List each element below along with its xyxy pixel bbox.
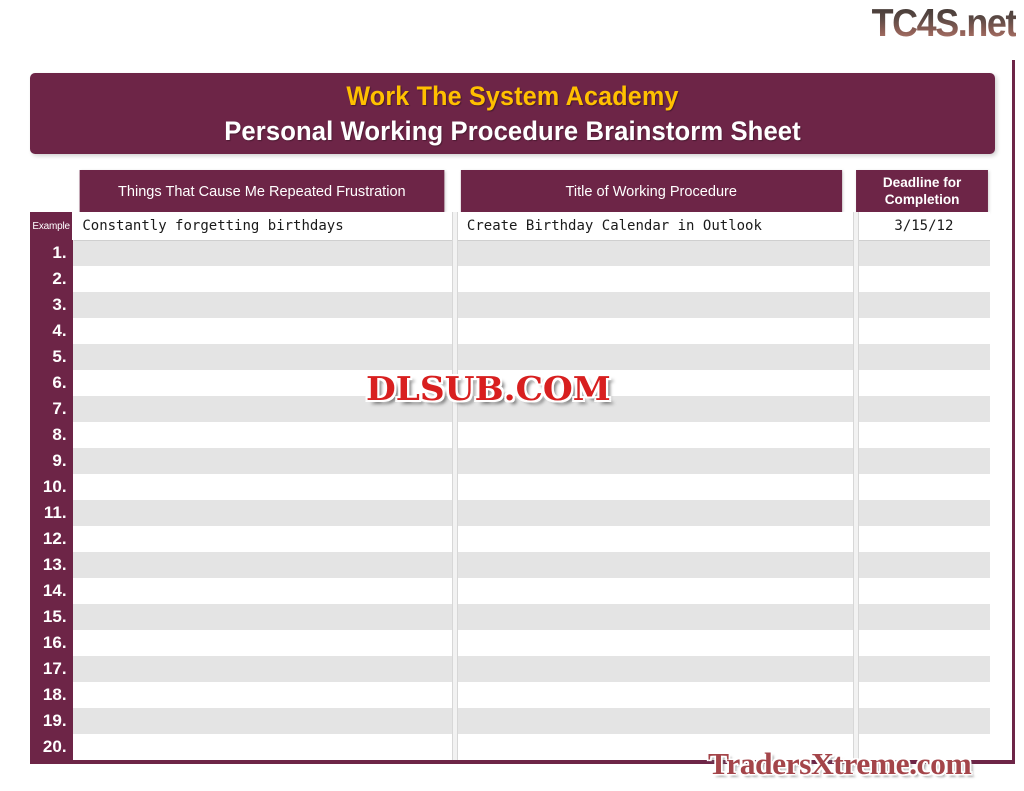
- cell-procedure[interactable]: [457, 266, 838, 292]
- cell-gap-2: [838, 604, 858, 630]
- cell-procedure[interactable]: [457, 708, 838, 734]
- cell-deadline[interactable]: [858, 604, 990, 630]
- header-banner: Work The System Academy Personal Working…: [30, 73, 995, 154]
- example-gap-1: [437, 212, 457, 240]
- cell-deadline[interactable]: [858, 656, 990, 682]
- cell-gap-2: [838, 292, 858, 318]
- cell-gap-1: [437, 656, 457, 682]
- header-number-spacer: [30, 170, 74, 212]
- cell-gap-2: [838, 578, 858, 604]
- row-number: 12.: [30, 526, 73, 552]
- cell-gap-1: [437, 604, 457, 630]
- banner-title: Work The System Academy: [64, 79, 961, 113]
- dlsub-watermark: DLSUB.COM: [366, 369, 611, 408]
- cell-gap-2: [838, 552, 858, 578]
- example-cell-frustration: Constantly forgetting birthdays: [72, 212, 437, 240]
- example-cell-procedure: Create Birthday Calendar in Outlook: [457, 212, 838, 240]
- brainstorm-sheet-table: Things That Cause Me Repeated Frustratio…: [30, 170, 990, 762]
- cell-gap-1: [437, 266, 457, 292]
- table-row: 5.: [30, 344, 990, 370]
- cell-gap-2: [838, 448, 858, 474]
- table-row: 18.: [30, 682, 990, 708]
- row-number: 2.: [30, 266, 73, 292]
- cell-deadline[interactable]: [858, 682, 990, 708]
- cell-gap-1: [437, 292, 457, 318]
- row-number: 3.: [30, 292, 73, 318]
- table-row: 16.: [30, 630, 990, 656]
- example-gap-2: [838, 212, 858, 240]
- cell-gap-1: [437, 422, 457, 448]
- row-number: 1.: [30, 240, 73, 266]
- cell-deadline[interactable]: [858, 422, 990, 448]
- cell-gap-1: [437, 240, 457, 266]
- column-header-procedure: Title of Working Procedure: [461, 170, 842, 212]
- row-number: 6.: [30, 370, 73, 396]
- cell-deadline[interactable]: [858, 318, 990, 344]
- table-row-example: Example Constantly forgetting birthdays …: [30, 212, 990, 240]
- cell-gap-1: [437, 708, 457, 734]
- cell-procedure[interactable]: [457, 292, 838, 318]
- cell-procedure[interactable]: [457, 240, 838, 266]
- row-number: 13.: [30, 552, 73, 578]
- cell-frustration[interactable]: [73, 344, 437, 370]
- header-gap-2: [848, 170, 854, 212]
- cell-gap-2: [838, 526, 858, 552]
- cell-frustration[interactable]: [73, 734, 437, 760]
- cell-procedure[interactable]: [457, 578, 838, 604]
- table-row: 2.: [30, 266, 990, 292]
- cell-procedure[interactable]: [457, 422, 838, 448]
- cell-frustration[interactable]: [73, 578, 437, 604]
- cell-procedure[interactable]: [457, 344, 838, 370]
- table-row: 10.: [30, 474, 990, 500]
- table-row: 3.: [30, 292, 990, 318]
- cell-procedure[interactable]: [457, 474, 838, 500]
- cell-gap-2: [838, 708, 858, 734]
- cell-procedure[interactable]: [457, 318, 838, 344]
- row-number: 20.: [30, 734, 73, 760]
- cell-procedure[interactable]: [457, 552, 838, 578]
- cell-deadline[interactable]: [858, 344, 990, 370]
- right-border-rule: [1012, 60, 1015, 764]
- cell-frustration[interactable]: [73, 552, 437, 578]
- row-label-example: Example: [30, 212, 72, 240]
- cell-gap-1: [437, 448, 457, 474]
- table-body: Example Constantly forgetting birthdays …: [30, 212, 990, 760]
- site-logo: TC4S.net: [872, 2, 1016, 46]
- cell-frustration[interactable]: [73, 422, 437, 448]
- cell-gap-2: [838, 240, 858, 266]
- row-number: 14.: [30, 578, 73, 604]
- table-row: 14.: [30, 578, 990, 604]
- cell-gap-2: [838, 266, 858, 292]
- column-header-frustration: Things That Cause Me Repeated Frustratio…: [79, 170, 443, 212]
- cell-gap-2: [838, 474, 858, 500]
- cell-frustration[interactable]: [73, 448, 437, 474]
- cell-gap-1: [437, 318, 457, 344]
- row-number: 18.: [30, 682, 73, 708]
- cell-frustration[interactable]: [73, 240, 437, 266]
- cell-procedure[interactable]: [457, 682, 838, 708]
- table-row: 8.: [30, 422, 990, 448]
- cell-frustration[interactable]: [73, 318, 437, 344]
- table-row: 19.: [30, 708, 990, 734]
- cell-frustration[interactable]: [73, 526, 437, 552]
- cell-frustration[interactable]: [73, 292, 437, 318]
- table-row: 4.: [30, 318, 990, 344]
- cell-frustration[interactable]: [73, 604, 437, 630]
- cell-gap-1: [437, 630, 457, 656]
- table-row: 9.: [30, 448, 990, 474]
- cell-deadline[interactable]: [858, 292, 990, 318]
- tradersxtreme-watermark: TradersXtreme.com: [708, 746, 971, 782]
- numbered-rows-host: 1.2.3.4.5.6.7.8.9.10.11.12.13.14.15.16.1…: [30, 240, 990, 760]
- cell-procedure[interactable]: [457, 630, 838, 656]
- table-row: 15.: [30, 604, 990, 630]
- header-gap-1: [449, 170, 455, 212]
- cell-deadline[interactable]: [858, 526, 990, 552]
- example-cell-deadline: 3/15/12: [858, 212, 990, 240]
- cell-gap-2: [838, 370, 858, 396]
- cell-procedure[interactable]: [457, 526, 838, 552]
- cell-gap-1: [437, 682, 457, 708]
- cell-frustration[interactable]: [73, 500, 437, 526]
- cell-gap-1: [437, 500, 457, 526]
- cell-gap-1: [437, 474, 457, 500]
- cell-procedure[interactable]: [457, 656, 838, 682]
- row-number: 10.: [30, 474, 73, 500]
- cell-gap-1: [437, 552, 457, 578]
- cell-frustration[interactable]: [73, 708, 437, 734]
- cell-gap-2: [838, 344, 858, 370]
- cell-procedure[interactable]: [457, 500, 838, 526]
- row-number: 9.: [30, 448, 73, 474]
- table-row: 1.: [30, 240, 990, 266]
- cell-gap-2: [838, 422, 858, 448]
- table-header-row: Things That Cause Me Repeated Frustratio…: [30, 170, 990, 212]
- cell-deadline[interactable]: [858, 500, 990, 526]
- row-number: 4.: [30, 318, 73, 344]
- cell-deadline[interactable]: [858, 474, 990, 500]
- cell-gap-2: [838, 500, 858, 526]
- row-number: 5.: [30, 344, 73, 370]
- cell-gap-2: [838, 630, 858, 656]
- cell-frustration[interactable]: [73, 656, 437, 682]
- column-header-deadline: Deadline for Completion: [856, 170, 988, 212]
- cell-deadline[interactable]: [858, 448, 990, 474]
- cell-gap-2: [838, 318, 858, 344]
- cell-frustration[interactable]: [73, 682, 437, 708]
- cell-frustration[interactable]: [73, 266, 437, 292]
- row-number: 11.: [30, 500, 73, 526]
- cell-gap-2: [838, 682, 858, 708]
- cell-deadline[interactable]: [858, 708, 990, 734]
- cell-deadline[interactable]: [858, 552, 990, 578]
- cell-deadline[interactable]: [858, 578, 990, 604]
- cell-procedure[interactable]: [457, 448, 838, 474]
- cell-deadline[interactable]: [858, 396, 990, 422]
- cell-deadline[interactable]: [858, 630, 990, 656]
- table-row: 13.: [30, 552, 990, 578]
- cell-procedure[interactable]: [457, 604, 838, 630]
- cell-frustration[interactable]: [73, 630, 437, 656]
- row-number: 17.: [30, 656, 73, 682]
- table-row: 11.: [30, 500, 990, 526]
- table-row: 12.: [30, 526, 990, 552]
- banner-subtitle: Personal Working Procedure Brainstorm Sh…: [54, 113, 971, 149]
- row-number: 19.: [30, 708, 73, 734]
- row-number: 15.: [30, 604, 73, 630]
- cell-deadline[interactable]: [858, 370, 990, 396]
- cell-deadline[interactable]: [858, 266, 990, 292]
- table-row: 17.: [30, 656, 990, 682]
- cell-gap-1: [437, 344, 457, 370]
- cell-gap-2: [838, 656, 858, 682]
- cell-gap-2: [838, 396, 858, 422]
- cell-gap-1: [437, 734, 457, 760]
- row-number: 7.: [30, 396, 73, 422]
- cell-gap-1: [437, 578, 457, 604]
- cell-gap-1: [437, 526, 457, 552]
- row-number: 8.: [30, 422, 73, 448]
- row-number: 16.: [30, 630, 73, 656]
- cell-deadline[interactable]: [858, 240, 990, 266]
- cell-frustration[interactable]: [73, 474, 437, 500]
